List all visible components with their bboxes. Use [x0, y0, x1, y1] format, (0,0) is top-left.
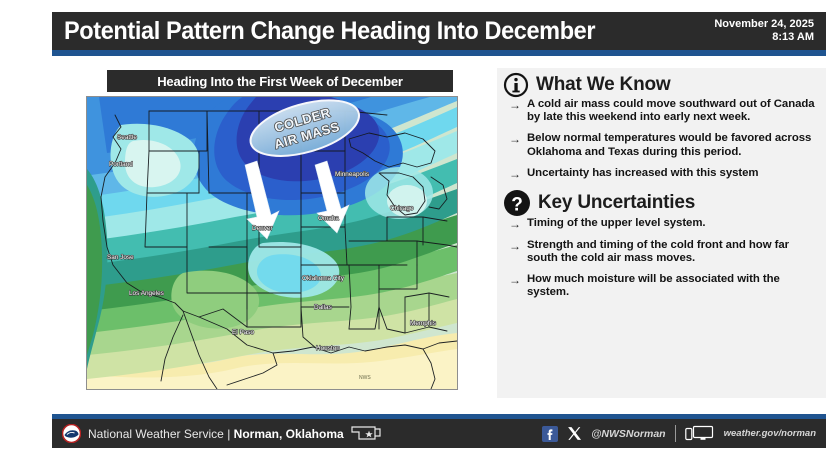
city-label: Omaha [318, 215, 339, 222]
bullet-text: Uncertainty has increased with this syst… [527, 167, 759, 181]
arrow-icon: → [509, 217, 521, 231]
devices-icon [685, 425, 715, 442]
question-circle-icon: ? [503, 189, 531, 217]
x-twitter-icon[interactable] [567, 426, 582, 441]
footer-divider [675, 425, 676, 442]
footer-social: @NWSNorman weather.gov/norman [542, 425, 816, 442]
issue-time: 8:13 AM [714, 31, 814, 44]
arrow-icon: → [509, 132, 521, 158]
bullet-text: Below normal temperatures would be favor… [527, 132, 818, 158]
city-label: Seattle [117, 134, 137, 141]
weather-graphic: Potential Pattern Change Heading Into De… [0, 0, 838, 462]
svg-text:?: ? [511, 194, 523, 215]
city-label: Chicago [390, 205, 414, 212]
map-attribution: NWS [359, 375, 371, 381]
key-uncertainties-list: → Timing of the upper level system. → St… [497, 217, 826, 300]
list-item: → A cold air mass could move southward o… [509, 98, 818, 124]
website-url: weather.gov/norman [724, 428, 816, 439]
city-label: Portland [109, 161, 133, 168]
city-label: Denver [252, 225, 273, 232]
issue-date: November 24, 2025 [714, 18, 814, 31]
map-title-text: Heading Into the First Week of December [157, 74, 403, 89]
info-panel: What We Know → A cold air mass could mov… [497, 68, 826, 398]
info-circle-icon [503, 72, 529, 98]
footer-agency: National Weather Service | Norman, Oklah… [88, 427, 344, 441]
bullet-text: Strength and timing of the cold front an… [527, 239, 818, 265]
list-item: → How much moisture will be associated w… [509, 273, 818, 299]
list-item: → Below normal temperatures would be fav… [509, 132, 818, 158]
bullet-text: Timing of the upper level system. [527, 217, 706, 231]
page-title: Potential Pattern Change Heading Into De… [64, 17, 595, 46]
header-accent-bar [52, 50, 826, 56]
section-title: Key Uncertainties [538, 192, 695, 214]
temperature-anomaly-map: COLDER AIR MASS Seattle Portland San Jos… [86, 96, 458, 390]
footer-branding: National Weather Service | Norman, Oklah… [62, 424, 381, 443]
city-label: Minneapolis [335, 171, 369, 178]
city-label: Oklahoma City [302, 275, 345, 282]
city-label: Houston [316, 345, 340, 352]
header-bar: Potential Pattern Change Heading Into De… [52, 12, 826, 50]
list-item: → Strength and timing of the cold front … [509, 239, 818, 265]
city-label: Memphis [410, 320, 436, 327]
key-uncertainties-header: ? Key Uncertainties [497, 189, 826, 217]
what-we-know-list: → A cold air mass could move southward o… [497, 98, 826, 181]
section-title: What We Know [536, 74, 670, 96]
arrow-icon: → [509, 273, 521, 299]
bullet-text: How much moisture will be associated wit… [527, 273, 818, 299]
map-title-bar: Heading Into the First Week of December [107, 70, 453, 92]
footer-bar: National Weather Service | Norman, Oklah… [52, 419, 826, 448]
arrow-icon: → [509, 167, 521, 181]
arrow-icon: → [509, 98, 521, 124]
city-label: San Jose [107, 254, 134, 261]
what-we-know-header: What We Know [497, 72, 826, 98]
list-item: → Timing of the upper level system. [509, 217, 818, 231]
nws-logo-icon [62, 424, 81, 443]
city-label: Dallas [314, 304, 332, 311]
facebook-icon[interactable] [542, 426, 558, 442]
map-graphic: COLDER AIR MASS Seattle Portland San Jos… [87, 97, 457, 389]
oklahoma-outline-icon [351, 425, 381, 442]
timestamp: November 24, 2025 8:13 AM [714, 18, 814, 44]
city-label: Los Angeles [129, 290, 164, 297]
city-label: El Paso [232, 329, 254, 336]
social-handle: @NWSNorman [591, 428, 665, 440]
arrow-icon: → [509, 239, 521, 265]
list-item: → Uncertainty has increased with this sy… [509, 167, 818, 181]
bullet-text: A cold air mass could move southward out… [527, 98, 818, 124]
